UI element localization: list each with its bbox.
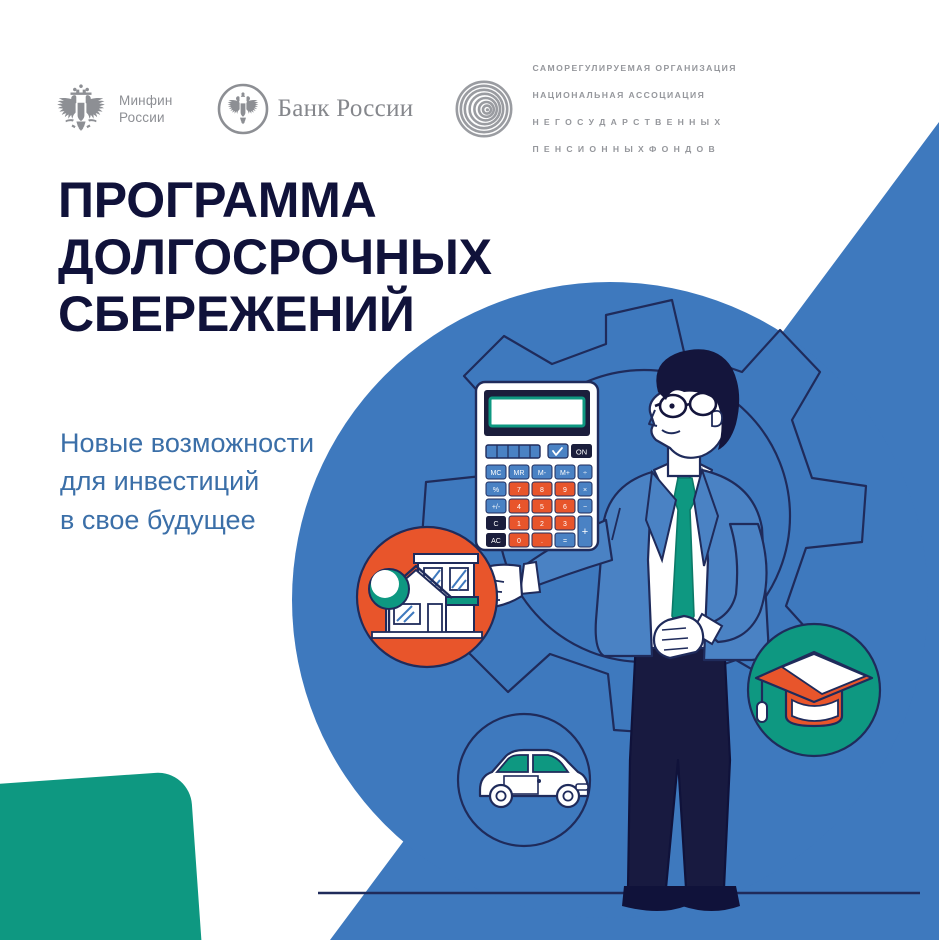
blue-background-circle (292, 282, 928, 918)
logo-napf-line-2: НАЦИОНАЛЬНАЯ АССОЦИАЦИЯ (532, 89, 736, 103)
page-title: ПРОГРАММА ДОЛГОСРОЧНЫХ СБЕРЕЖЕНИЙ (58, 172, 492, 343)
logo-napf: САМОРЕГУЛИРУЕМАЯ ОРГАНИЗАЦИЯ НАЦИОНАЛЬНА… (455, 48, 736, 170)
page-title-line-3: СБЕРЕЖЕНИЙ (58, 286, 492, 343)
page-title-line-1: ПРОГРАММА (58, 172, 492, 229)
page-title-line-2: ДОЛГОСРОЧНЫХ (58, 229, 492, 286)
logo-napf-line-3: Н Е Г О С У Д А Р С Т В Е Н Н Ы Х (532, 116, 736, 130)
page-subtitle: Новые возможности для инвестиций в свое … (60, 424, 314, 539)
logo-bank-of-russia: Банк России (217, 83, 414, 135)
double-headed-eagle-icon (52, 83, 110, 135)
page-subtitle-line-1: Новые возможности (60, 424, 314, 462)
spiral-logo-icon (455, 80, 513, 138)
partner-logo-bar: Минфин России Банк России (52, 48, 737, 170)
logo-napf-label: САМОРЕГУЛИРУЕМАЯ ОРГАНИЗАЦИЯ НАЦИОНАЛЬНА… (532, 48, 736, 170)
page-subtitle-line-2: для инвестиций (60, 462, 314, 500)
logo-bank-of-russia-label: Банк России (278, 93, 414, 125)
bank-of-russia-eagle-emblem-icon (217, 83, 269, 135)
logo-napf-line-1: САМОРЕГУЛИРУЕМАЯ ОРГАНИЗАЦИЯ (532, 62, 736, 76)
logo-minfin-rossii: Минфин России (52, 83, 173, 135)
logo-napf-line-4: П Е Н С И О Н Н Ы Х Ф О Н Д О В (532, 143, 736, 157)
logo-minfin-label: Минфин России (119, 92, 173, 127)
page-subtitle-line-3: в свое будущее (60, 501, 314, 539)
teal-corner-block (0, 770, 210, 940)
poster-root: Минфин России Банк России (0, 0, 939, 940)
